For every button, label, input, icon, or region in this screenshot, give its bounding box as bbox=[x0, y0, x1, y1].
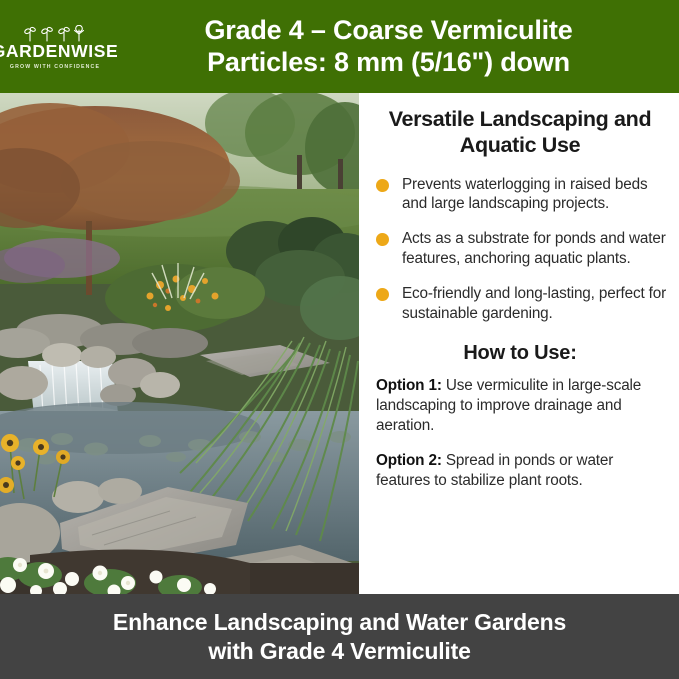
benefits-list: Prevents waterlogging in raised beds and… bbox=[370, 175, 670, 324]
bullet-dot-icon bbox=[376, 233, 389, 246]
footer-title: Enhance Landscaping and Water Gardens wi… bbox=[113, 608, 566, 666]
bullet-text: Acts as a substrate for ponds and water … bbox=[402, 229, 668, 269]
panel-heading-line-2: Aquatic Use bbox=[460, 133, 580, 157]
bullet-dot-icon bbox=[376, 288, 389, 301]
list-item: Acts as a substrate for ponds and water … bbox=[376, 229, 668, 269]
header-title: Grade 4 – Coarse Vermiculite Particles: … bbox=[110, 15, 679, 79]
garden-photo bbox=[0, 93, 359, 594]
header-title-line-1: Grade 4 – Coarse Vermiculite bbox=[204, 15, 572, 45]
logo-tagline: GROW WITH CONFIDENCE bbox=[10, 65, 100, 70]
footer-title-line-2: with Grade 4 Vermiculite bbox=[113, 637, 566, 666]
header-banner: GARDENWISE GROW WITH CONFIDENCE Grade 4 … bbox=[0, 0, 679, 93]
footer-title-line-1: Enhance Landscaping and Water Gardens bbox=[113, 609, 566, 635]
brand-logo: GARDENWISE GROW WITH CONFIDENCE bbox=[0, 0, 110, 93]
bullet-dot-icon bbox=[376, 179, 389, 192]
option-1-label: Option 1: bbox=[376, 377, 442, 394]
header-title-line-2: Particles: 8 mm (5/16") down bbox=[112, 47, 665, 79]
footer-banner: Enhance Landscaping and Water Gardens wi… bbox=[0, 594, 679, 679]
logo-wordmark: GARDENWISE bbox=[0, 43, 118, 61]
option-1: Option 1: Use vermiculite in large-scale… bbox=[370, 376, 670, 436]
howto-heading: How to Use: bbox=[370, 342, 670, 365]
option-2-label: Option 2: bbox=[376, 452, 442, 469]
option-2: Option 2: Spread in ponds or water featu… bbox=[370, 451, 670, 491]
list-item: Prevents waterlogging in raised beds and… bbox=[376, 175, 668, 215]
bullet-text: Prevents waterlogging in raised beds and… bbox=[402, 175, 668, 215]
product-infographic: GARDENWISE GROW WITH CONFIDENCE Grade 4 … bbox=[0, 0, 679, 679]
panel-heading: Versatile Landscaping and Aquatic Use bbox=[370, 107, 670, 159]
three-sprouts-icon bbox=[24, 25, 86, 42]
list-item: Eco-friendly and long-lasting, perfect f… bbox=[376, 284, 668, 324]
bullet-text: Eco-friendly and long-lasting, perfect f… bbox=[402, 284, 668, 324]
garden-photo-illustration bbox=[0, 93, 359, 594]
info-panel: Versatile Landscaping and Aquatic Use Pr… bbox=[359, 93, 679, 594]
panel-heading-line-1: Versatile Landscaping and bbox=[389, 107, 651, 131]
